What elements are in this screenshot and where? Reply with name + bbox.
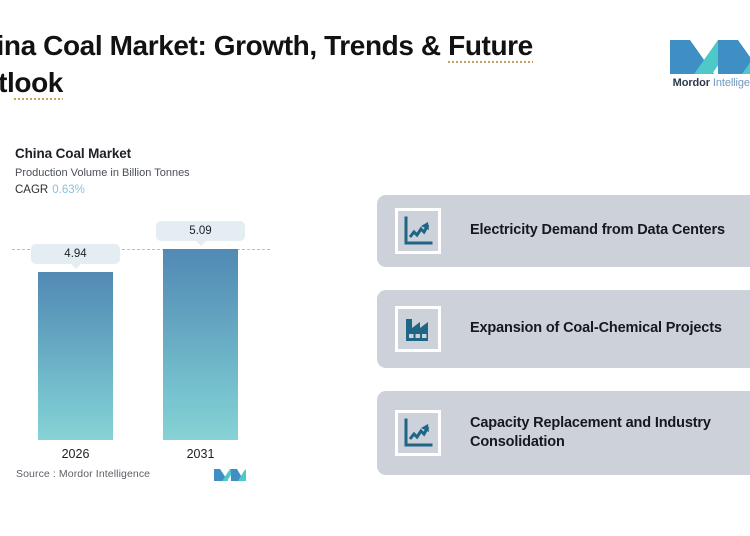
brand-wordmark: Mordor Intelligence <box>664 77 750 89</box>
trending-chart-icon <box>395 208 441 254</box>
page-title-emphasis-outlook: ook <box>14 67 63 100</box>
bar-2026 <box>38 272 113 440</box>
driver-card-coal-chemical[interactable]: Expansion of Coal-Chemical Projects <box>377 290 750 368</box>
cagr-value: 0.63% <box>52 184 85 196</box>
driver-card-label: Expansion of Coal-Chemical Projects <box>470 319 722 338</box>
factory-icon <box>395 306 441 352</box>
driver-card-label: Electricity Demand from Data Centers <box>470 221 725 240</box>
x-axis-label-2031: 2031 <box>163 447 238 461</box>
source-row: Source : Mordor Intelligence <box>16 467 316 481</box>
cagr-label: CAGR <box>15 184 48 196</box>
brand-name-bold: Mordor <box>673 77 713 89</box>
source-text: Source : Mordor Intelligence <box>16 468 150 480</box>
chart-title: China Coal Market <box>15 146 131 161</box>
drivers-card-list: Electricity Demand from Data Centers Exp… <box>377 195 750 498</box>
trending-chart-icon <box>395 410 441 456</box>
page-title-emphasis-future: Future <box>448 30 533 63</box>
brand-name-light: Intelligence <box>713 77 750 89</box>
bar-value-label-2031: 5.09 <box>156 221 245 241</box>
chart-plot-area: 4.94 5.09 2026 2031 <box>0 225 330 440</box>
driver-card-label: Capacity Replacement and Industry Consol… <box>470 414 750 453</box>
bar-2031 <box>163 249 238 440</box>
driver-card-electricity-demand[interactable]: Electricity Demand from Data Centers <box>377 195 750 267</box>
x-axis-label-2026: 2026 <box>38 447 113 461</box>
brand-logo: Mordor Intelligence <box>664 34 750 89</box>
driver-card-capacity-replacement[interactable]: Capacity Replacement and Industry Consol… <box>377 391 750 475</box>
chart-panel: China Coal Market Production Volume in B… <box>0 140 330 500</box>
mordor-m-logo-icon <box>664 34 750 74</box>
bar-value-label-2026: 4.94 <box>31 244 120 264</box>
page-title-line2: Outl <box>0 67 14 98</box>
page-title-line1: China Coal Market: Growth, Trends & <box>0 30 448 61</box>
chart-cagr: CAGR0.63% <box>15 184 85 196</box>
page-title: China Coal Market: Growth, Trends & Futu… <box>0 28 580 102</box>
mordor-m-logo-icon <box>212 467 246 481</box>
chart-subtitle: Production Volume in Billion Tonnes <box>15 167 190 179</box>
